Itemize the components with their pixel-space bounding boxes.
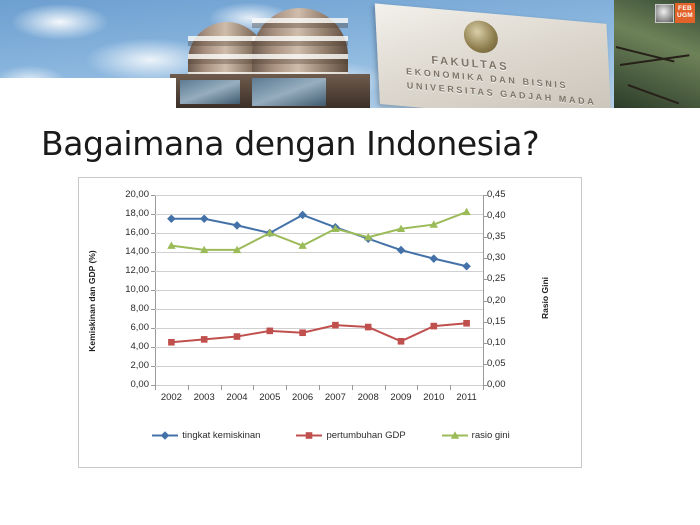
x-axis-tick-label: 2006: [292, 392, 313, 403]
x-axis-tick-label: 2007: [325, 392, 346, 403]
data-point-marker: [462, 262, 471, 271]
x-axis-tick-label: 2005: [259, 392, 280, 403]
y-axis-left-tick-label: 10,00: [125, 285, 149, 295]
data-point-marker: [397, 246, 406, 255]
data-point-marker: [430, 254, 439, 263]
y-axis-right-tickmark: [484, 322, 488, 323]
data-point-marker: [161, 431, 170, 440]
y-axis-right-line: [483, 195, 484, 386]
data-point-marker: [398, 338, 405, 345]
y-axis-left-tick-label: 2,00: [131, 361, 150, 371]
y-axis-right-tick-label: 0,45: [487, 190, 506, 200]
data-point-marker: [462, 208, 470, 215]
data-point-marker: [200, 214, 209, 223]
y-axis-right-tickmark: [484, 258, 488, 259]
data-point-marker: [298, 211, 307, 220]
y-axis-right-tickmark: [484, 385, 488, 386]
y-axis-right-tick-label: 0,05: [487, 359, 506, 369]
series-line: [171, 215, 466, 266]
data-point-marker: [306, 432, 313, 439]
data-point-marker: [168, 339, 175, 346]
y-axis-right-tick-label: 0,15: [487, 317, 506, 327]
y-axis-right-tick-label: 0,00: [487, 380, 506, 390]
y-axis-right-tickmark: [484, 343, 488, 344]
data-point-marker: [332, 322, 339, 329]
y-axis-left-tick-label: 16,00: [125, 228, 149, 238]
ugm-seal-logo-icon: [655, 4, 674, 23]
y-axis-right-tick-label: 0,25: [487, 274, 506, 284]
data-point-marker: [463, 320, 470, 327]
page-title: Bagaimana dengan Indonesia?: [41, 124, 539, 163]
ugm-emblem-icon: [463, 19, 499, 54]
legend-item: rasio gini: [442, 430, 510, 441]
x-axis-tick-label: 2011: [456, 392, 476, 403]
data-point-marker: [365, 324, 372, 331]
legend-label: tingkat kemiskinan: [182, 430, 260, 441]
y-axis-right-tick-label: 0,35: [487, 232, 506, 242]
legend-key-icon: [296, 430, 322, 441]
series-lines-svg: [155, 195, 483, 386]
y-axis-right-tickmark: [484, 195, 488, 196]
plot-area: [155, 195, 483, 385]
y-axis-right-tickmark: [484, 237, 488, 238]
x-axis-tick-label: 2009: [390, 392, 411, 403]
y-axis-right-tickmark: [484, 364, 488, 365]
x-axis-tick-label: 2002: [161, 392, 182, 403]
series-line: [171, 323, 466, 342]
data-point-marker: [234, 333, 241, 340]
legend-key-icon: [442, 430, 468, 441]
y-axis-right-tick-label: 0,40: [487, 211, 506, 221]
data-point-marker: [431, 323, 438, 330]
feb-ugm-logo: FEB UGM: [675, 3, 695, 23]
legend-item: tingkat kemiskinan: [152, 430, 260, 441]
x-axis-tick-label: 2008: [358, 392, 379, 403]
y-axis-right-tick-label: 0,30: [487, 253, 506, 263]
data-point-marker: [167, 214, 176, 223]
y-axis-left-tick-label: 4,00: [131, 342, 150, 352]
series-line: [171, 212, 466, 250]
banner-white-corner: [0, 78, 176, 108]
chart-plot-wrapper: Kemiskinan dan GDP (%) Rasio Gini 0,002,…: [79, 178, 583, 469]
legend-item: pertumbuhan GDP: [296, 430, 405, 441]
data-point-marker: [233, 221, 242, 230]
y-axis-right-tickmark: [484, 301, 488, 302]
y-axis-left-tick-label: 8,00: [131, 304, 150, 314]
y-axis-left-tick-label: 0,00: [131, 380, 150, 390]
y-axis-right-tickmark: [484, 216, 488, 217]
chart-container: Kemiskinan dan GDP (%) Rasio Gini 0,002,…: [78, 177, 582, 468]
x-axis-tickmark: [483, 385, 484, 390]
y-axis-right-title: Rasio Gini: [540, 238, 550, 358]
legend-label: rasio gini: [472, 430, 510, 441]
y-axis-right-tickmark: [484, 279, 488, 280]
legend-key-icon: [152, 430, 178, 441]
legend-label: pertumbuhan GDP: [326, 430, 405, 441]
data-point-marker: [201, 336, 208, 343]
header-banner-image: FAKULTAS EKONOMIKA DAN BISNIS UNIVERSITA…: [0, 0, 700, 108]
x-axis-tick-label: 2003: [194, 392, 215, 403]
building-base: [170, 74, 370, 108]
y-axis-left-tick-label: 12,00: [125, 266, 149, 276]
x-axis-tick-label: 2004: [226, 392, 247, 403]
data-point-marker: [267, 328, 274, 335]
chart-legend: tingkat kemiskinanpertumbuhan GDPrasio g…: [79, 430, 583, 441]
x-axis-tick-label: 2010: [423, 392, 444, 403]
y-axis-right-tick-label: 0,10: [487, 338, 506, 348]
y-axis-left-title: Kemiskinan dan GDP (%): [87, 226, 97, 376]
data-point-marker: [299, 329, 306, 336]
y-axis-left-tick-label: 20,00: [125, 190, 149, 200]
y-axis-left-tick-label: 14,00: [125, 247, 149, 257]
y-axis-left-tick-label: 18,00: [125, 209, 149, 219]
y-axis-left-tick-label: 6,00: [131, 323, 150, 333]
y-axis-right-tick-label: 0,20: [487, 296, 506, 306]
x-axis-ticklabels: 2002200320042005200620072008200920102011: [155, 392, 483, 406]
